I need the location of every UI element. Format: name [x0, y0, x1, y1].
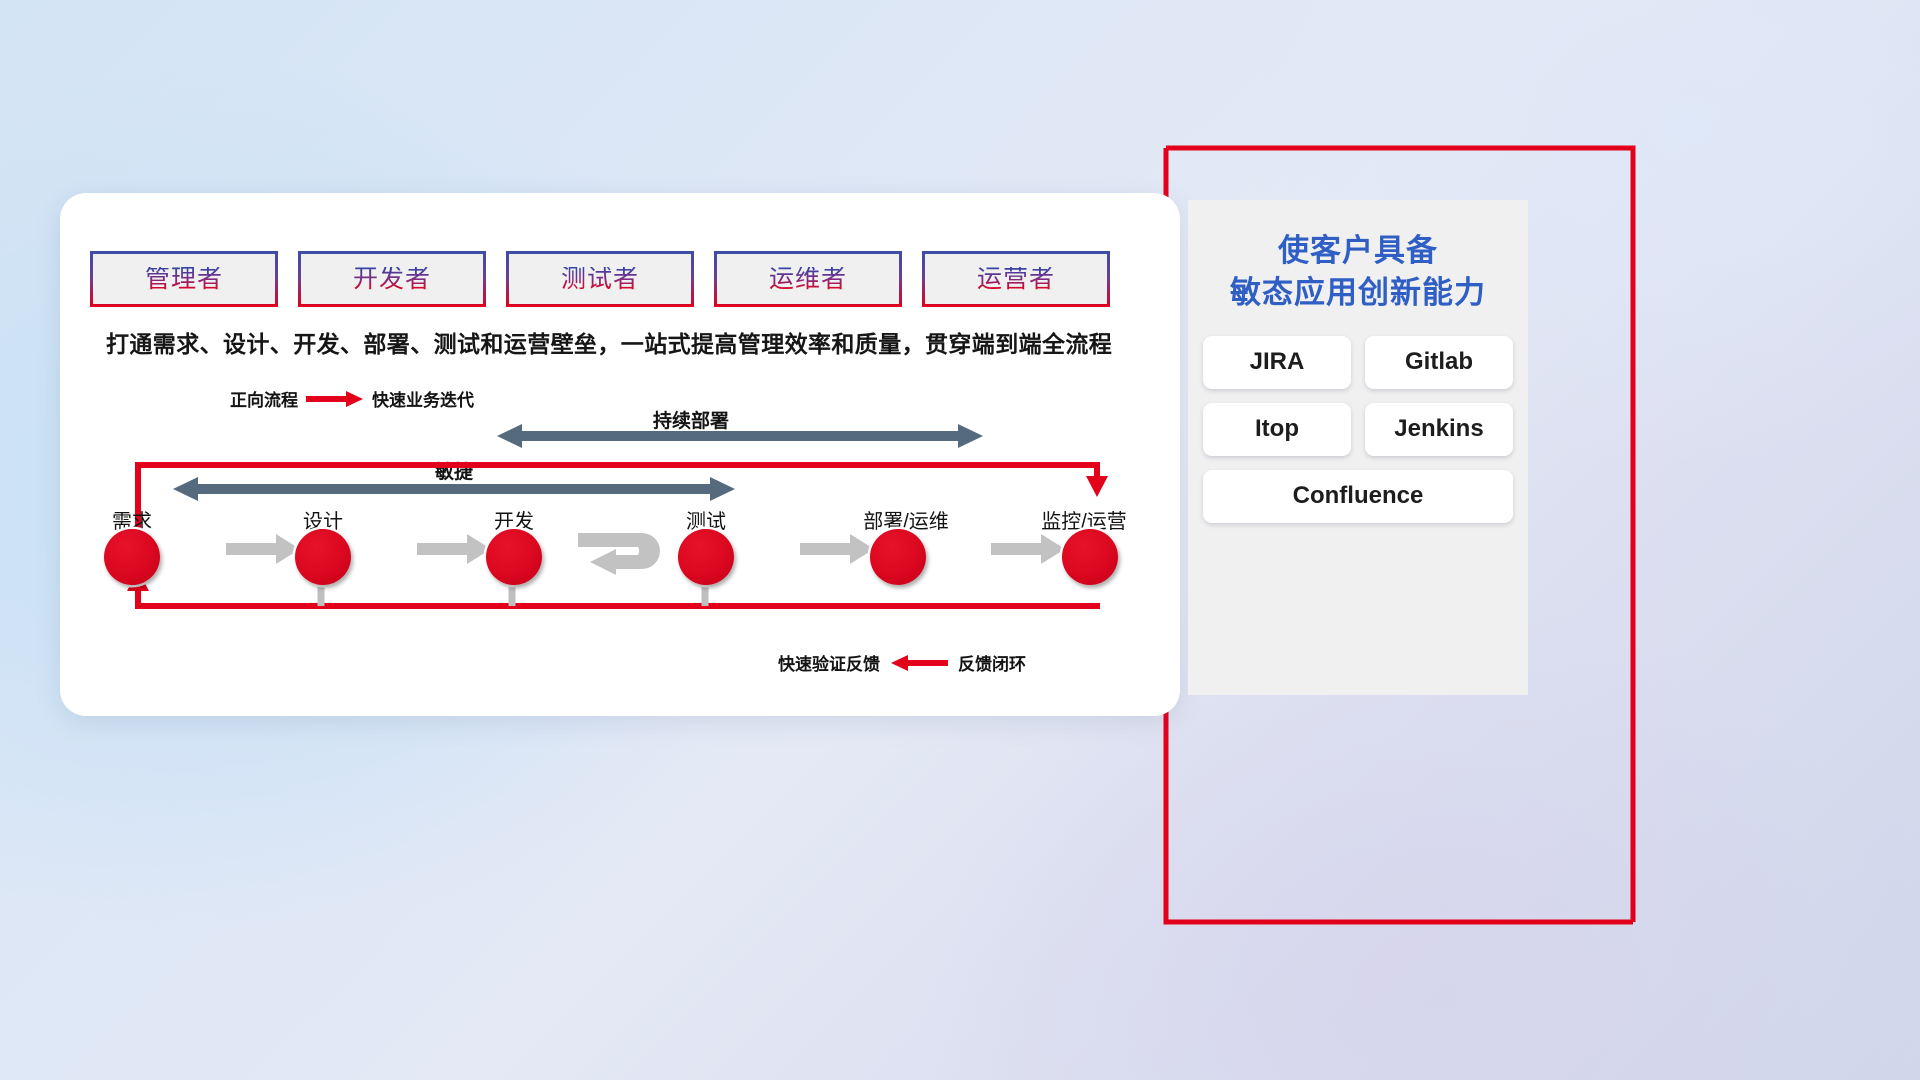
- tool-chip-confluence[interactable]: Confluence: [1203, 470, 1513, 523]
- capability-panel: 使客户具备 敏态应用创新能力 JIRA Gitlab Itop Jenkins …: [1188, 200, 1528, 695]
- stage-node-deploy-ops[interactable]: [870, 529, 926, 585]
- panel-title-line1: 使客户具备: [1188, 230, 1528, 272]
- devops-card: 管理者 开发者 测试者 运维者 运营者 打通需求、设计、开发、部署、测试和运营壁…: [60, 193, 1180, 716]
- tool-chip-jenkins[interactable]: Jenkins: [1365, 403, 1513, 456]
- agile-double-arrow: [173, 477, 735, 501]
- stage-node-requirement[interactable]: [104, 529, 160, 585]
- stage-node-monitor-operations[interactable]: [1062, 529, 1118, 585]
- tool-chip-gitlab[interactable]: Gitlab: [1365, 336, 1513, 389]
- continuous-deployment-double-arrow: [497, 424, 983, 448]
- stage-node-develop[interactable]: [486, 529, 542, 585]
- loop-back-arrow-icon: [572, 533, 660, 575]
- tool-chip-itop[interactable]: Itop: [1203, 403, 1351, 456]
- panel-title: 使客户具备 敏态应用创新能力: [1188, 230, 1528, 314]
- panel-title-line2: 敏态应用创新能力: [1188, 272, 1528, 314]
- slide-canvas: 管理者 开发者 测试者 运维者 运营者 打通需求、设计、开发、部署、测试和运营壁…: [0, 0, 1920, 1080]
- tool-chip-jira[interactable]: JIRA: [1203, 336, 1351, 389]
- stage-node-test[interactable]: [678, 529, 734, 585]
- tool-list: JIRA Gitlab Itop Jenkins Confluence: [1188, 336, 1528, 523]
- pipeline-vector-layer: [60, 193, 1180, 716]
- stage-node-design[interactable]: [295, 529, 351, 585]
